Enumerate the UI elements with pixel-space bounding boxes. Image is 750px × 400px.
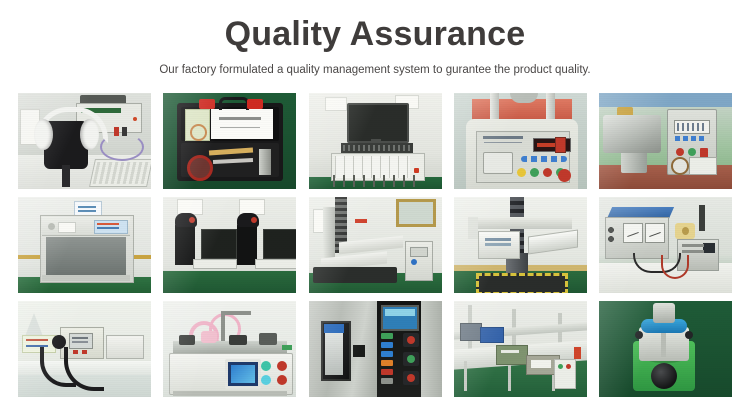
gallery-item-color-assessment-light-box[interactable]: Colour assessment viewing light box cabi… bbox=[18, 197, 151, 293]
gallery-item-qc-workbench-line[interactable]: Long QC workbench line with assorted tes… bbox=[454, 301, 587, 397]
photo-headphone-acoustic-test-station bbox=[18, 93, 151, 189]
page-subtitle: Our factory formulated a quality managem… bbox=[0, 62, 750, 78]
section-header: Quality Assurance Our factory formulated… bbox=[0, 0, 750, 78]
photo-cable-flex-test-instrument bbox=[18, 301, 151, 397]
photo-analog-meter-test-bench bbox=[599, 197, 732, 293]
gallery-item-drop-test-machine[interactable]: Drop test machine with dual release plat… bbox=[309, 197, 442, 293]
gallery-item-clamping-force-fixture[interactable]: Green and blue clamping force test fixtu… bbox=[599, 301, 732, 397]
photo-calibration-tool-case bbox=[163, 93, 296, 189]
quality-assurance-section: Quality Assurance Our factory formulated… bbox=[0, 0, 750, 400]
photo-ultrasonic-welding-controller bbox=[599, 93, 732, 189]
gallery-item-headband-fatigue-tester[interactable]: Headband bending fatigue tester with pin… bbox=[163, 301, 296, 397]
gallery-item-calibration-tool-case[interactable]: Black calibration tool case with red lat… bbox=[163, 93, 296, 189]
photo-pressure-test-machine bbox=[454, 93, 587, 189]
photo-multi-channel-test-rack bbox=[309, 93, 442, 189]
photo-qc-workbench-line bbox=[454, 301, 587, 397]
gallery-item-analog-meter-test-bench[interactable]: Analogue dual-meter instrument connected… bbox=[599, 197, 732, 293]
photo-drop-test-machine bbox=[309, 197, 442, 293]
gallery-item-ultrasonic-welding-controller[interactable]: Grey machine head beside digital control… bbox=[599, 93, 732, 189]
photo-environmental-test-chamber bbox=[309, 301, 442, 397]
photo-headphone-listening-test-desks bbox=[163, 197, 296, 293]
gallery-item-headphone-acoustic-test-station[interactable]: Headphone acoustic test fixture with ins… bbox=[18, 93, 151, 189]
photo-headband-fatigue-tester bbox=[163, 301, 296, 397]
gallery-item-cable-flex-test-instrument[interactable]: Benchtop test instrument with heavy blac… bbox=[18, 301, 151, 397]
quality-assurance-image-grid: Headphone acoustic test fixture with ins… bbox=[18, 93, 732, 397]
photo-color-assessment-light-box bbox=[18, 197, 151, 293]
gallery-item-pressure-test-machine[interactable]: Press test machine control panel with re… bbox=[454, 93, 587, 189]
photo-clamping-force-fixture bbox=[599, 301, 732, 397]
gallery-item-drop-impact-tester[interactable]: Drop impact tester with hazard-striped f… bbox=[454, 197, 587, 293]
gallery-item-multi-channel-test-rack[interactable]: Monitor and keyboard above multi-channel… bbox=[309, 93, 442, 189]
gallery-item-headphone-listening-test-desks[interactable]: Two headphone listening test desks with … bbox=[163, 197, 296, 293]
gallery-item-environmental-test-chamber[interactable]: Environmental test chamber door, window … bbox=[309, 301, 442, 397]
photo-drop-impact-tester bbox=[454, 197, 587, 293]
page-title: Quality Assurance bbox=[0, 14, 750, 54]
